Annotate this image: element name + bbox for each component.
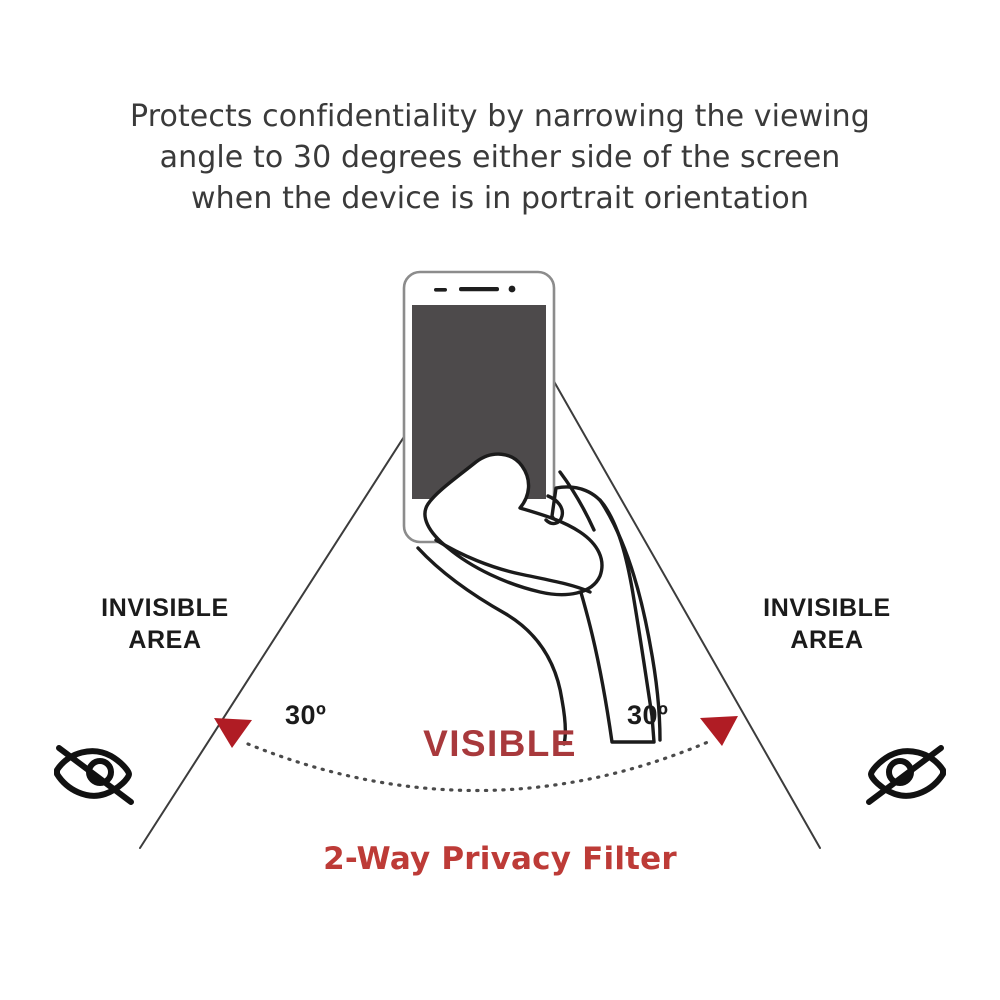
invisible-left-line-1: INVISIBLE xyxy=(101,594,229,622)
privacy-filter-infographic: Protects confidentiality by narrowing th… xyxy=(0,0,1000,1000)
product-caption: 2-Way Privacy Filter xyxy=(0,841,1000,877)
phone-camera-icon xyxy=(509,286,516,293)
invisible-area-label-left: INVISIBLE AREA xyxy=(50,592,280,656)
invisible-right-line-2: AREA xyxy=(712,624,942,656)
invisible-left-line-2: AREA xyxy=(50,624,280,656)
invisible-area-label-right: INVISIBLE AREA xyxy=(712,592,942,656)
phone-earpiece-icon xyxy=(459,287,499,291)
visible-area-label: VISIBLE xyxy=(0,723,1000,765)
invisible-right-line-1: INVISIBLE xyxy=(763,594,891,622)
phone-sensor-icon xyxy=(434,288,447,292)
